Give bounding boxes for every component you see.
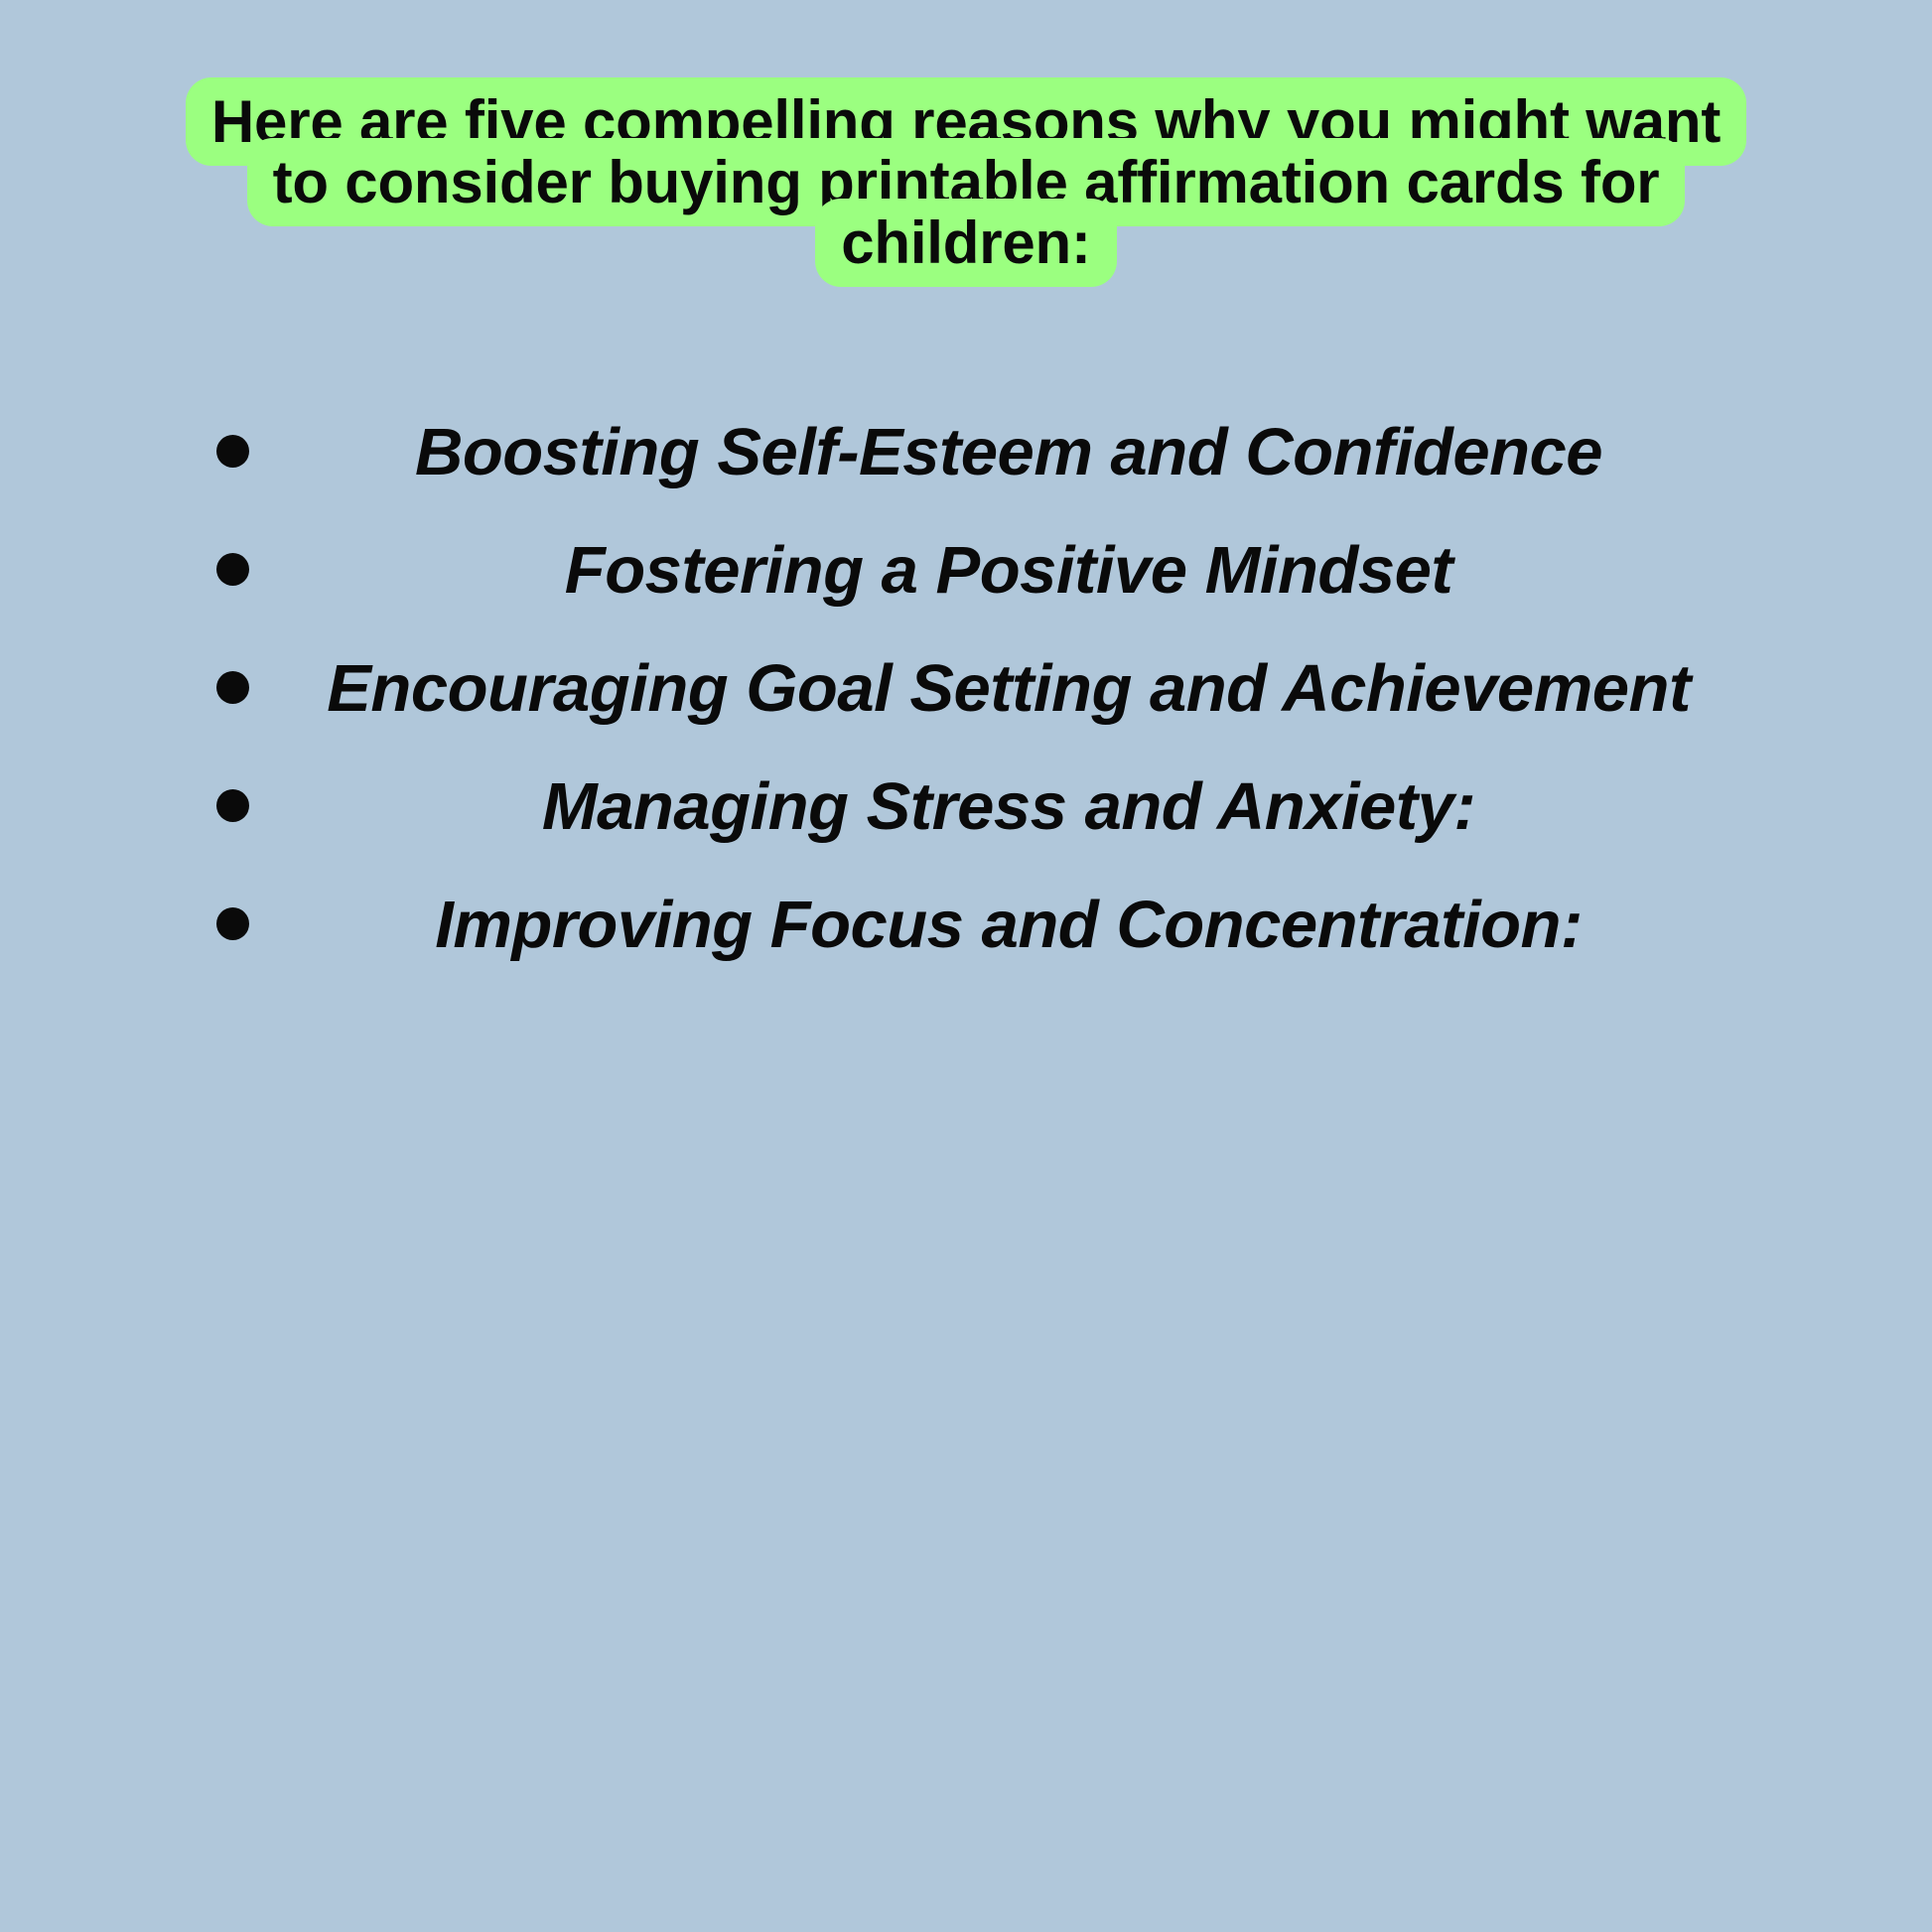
bullet-point-icon <box>216 789 249 822</box>
list-item: Improving Focus and Concentration: <box>0 868 1932 982</box>
heading-line-3: children: <box>0 205 1932 281</box>
bullet-point-icon <box>216 553 249 586</box>
reasons-list: Boosting Self-Esteem and Confidence Fost… <box>0 395 1932 986</box>
list-item: Boosting Self-Esteem and Confidence <box>0 395 1932 509</box>
list-item-label: Boosting Self-Esteem and Confidence <box>230 395 1787 509</box>
poster-canvas: Here are five compelling reasons why you… <box>0 0 1932 1932</box>
list-item-label: Improving Focus and Concentration: <box>230 868 1787 982</box>
bullet-point-icon <box>216 435 249 468</box>
list-item: Fostering a Positive Mindset <box>0 513 1932 627</box>
list-item-label: Encouraging Goal Setting and Achievement <box>230 631 1787 746</box>
heading-highlight-block: Here are five compelling reasons why you… <box>0 83 1932 281</box>
bullet-point-icon <box>216 907 249 940</box>
list-item: Encouraging Goal Setting and Achievement <box>0 631 1932 746</box>
list-item: Managing Stress and Anxiety: <box>0 750 1932 864</box>
heading-line-3-text: children: <box>815 199 1117 287</box>
list-item-label: Fostering a Positive Mindset <box>230 513 1787 627</box>
bullet-point-icon <box>216 671 249 704</box>
list-item-label: Managing Stress and Anxiety: <box>230 750 1787 864</box>
